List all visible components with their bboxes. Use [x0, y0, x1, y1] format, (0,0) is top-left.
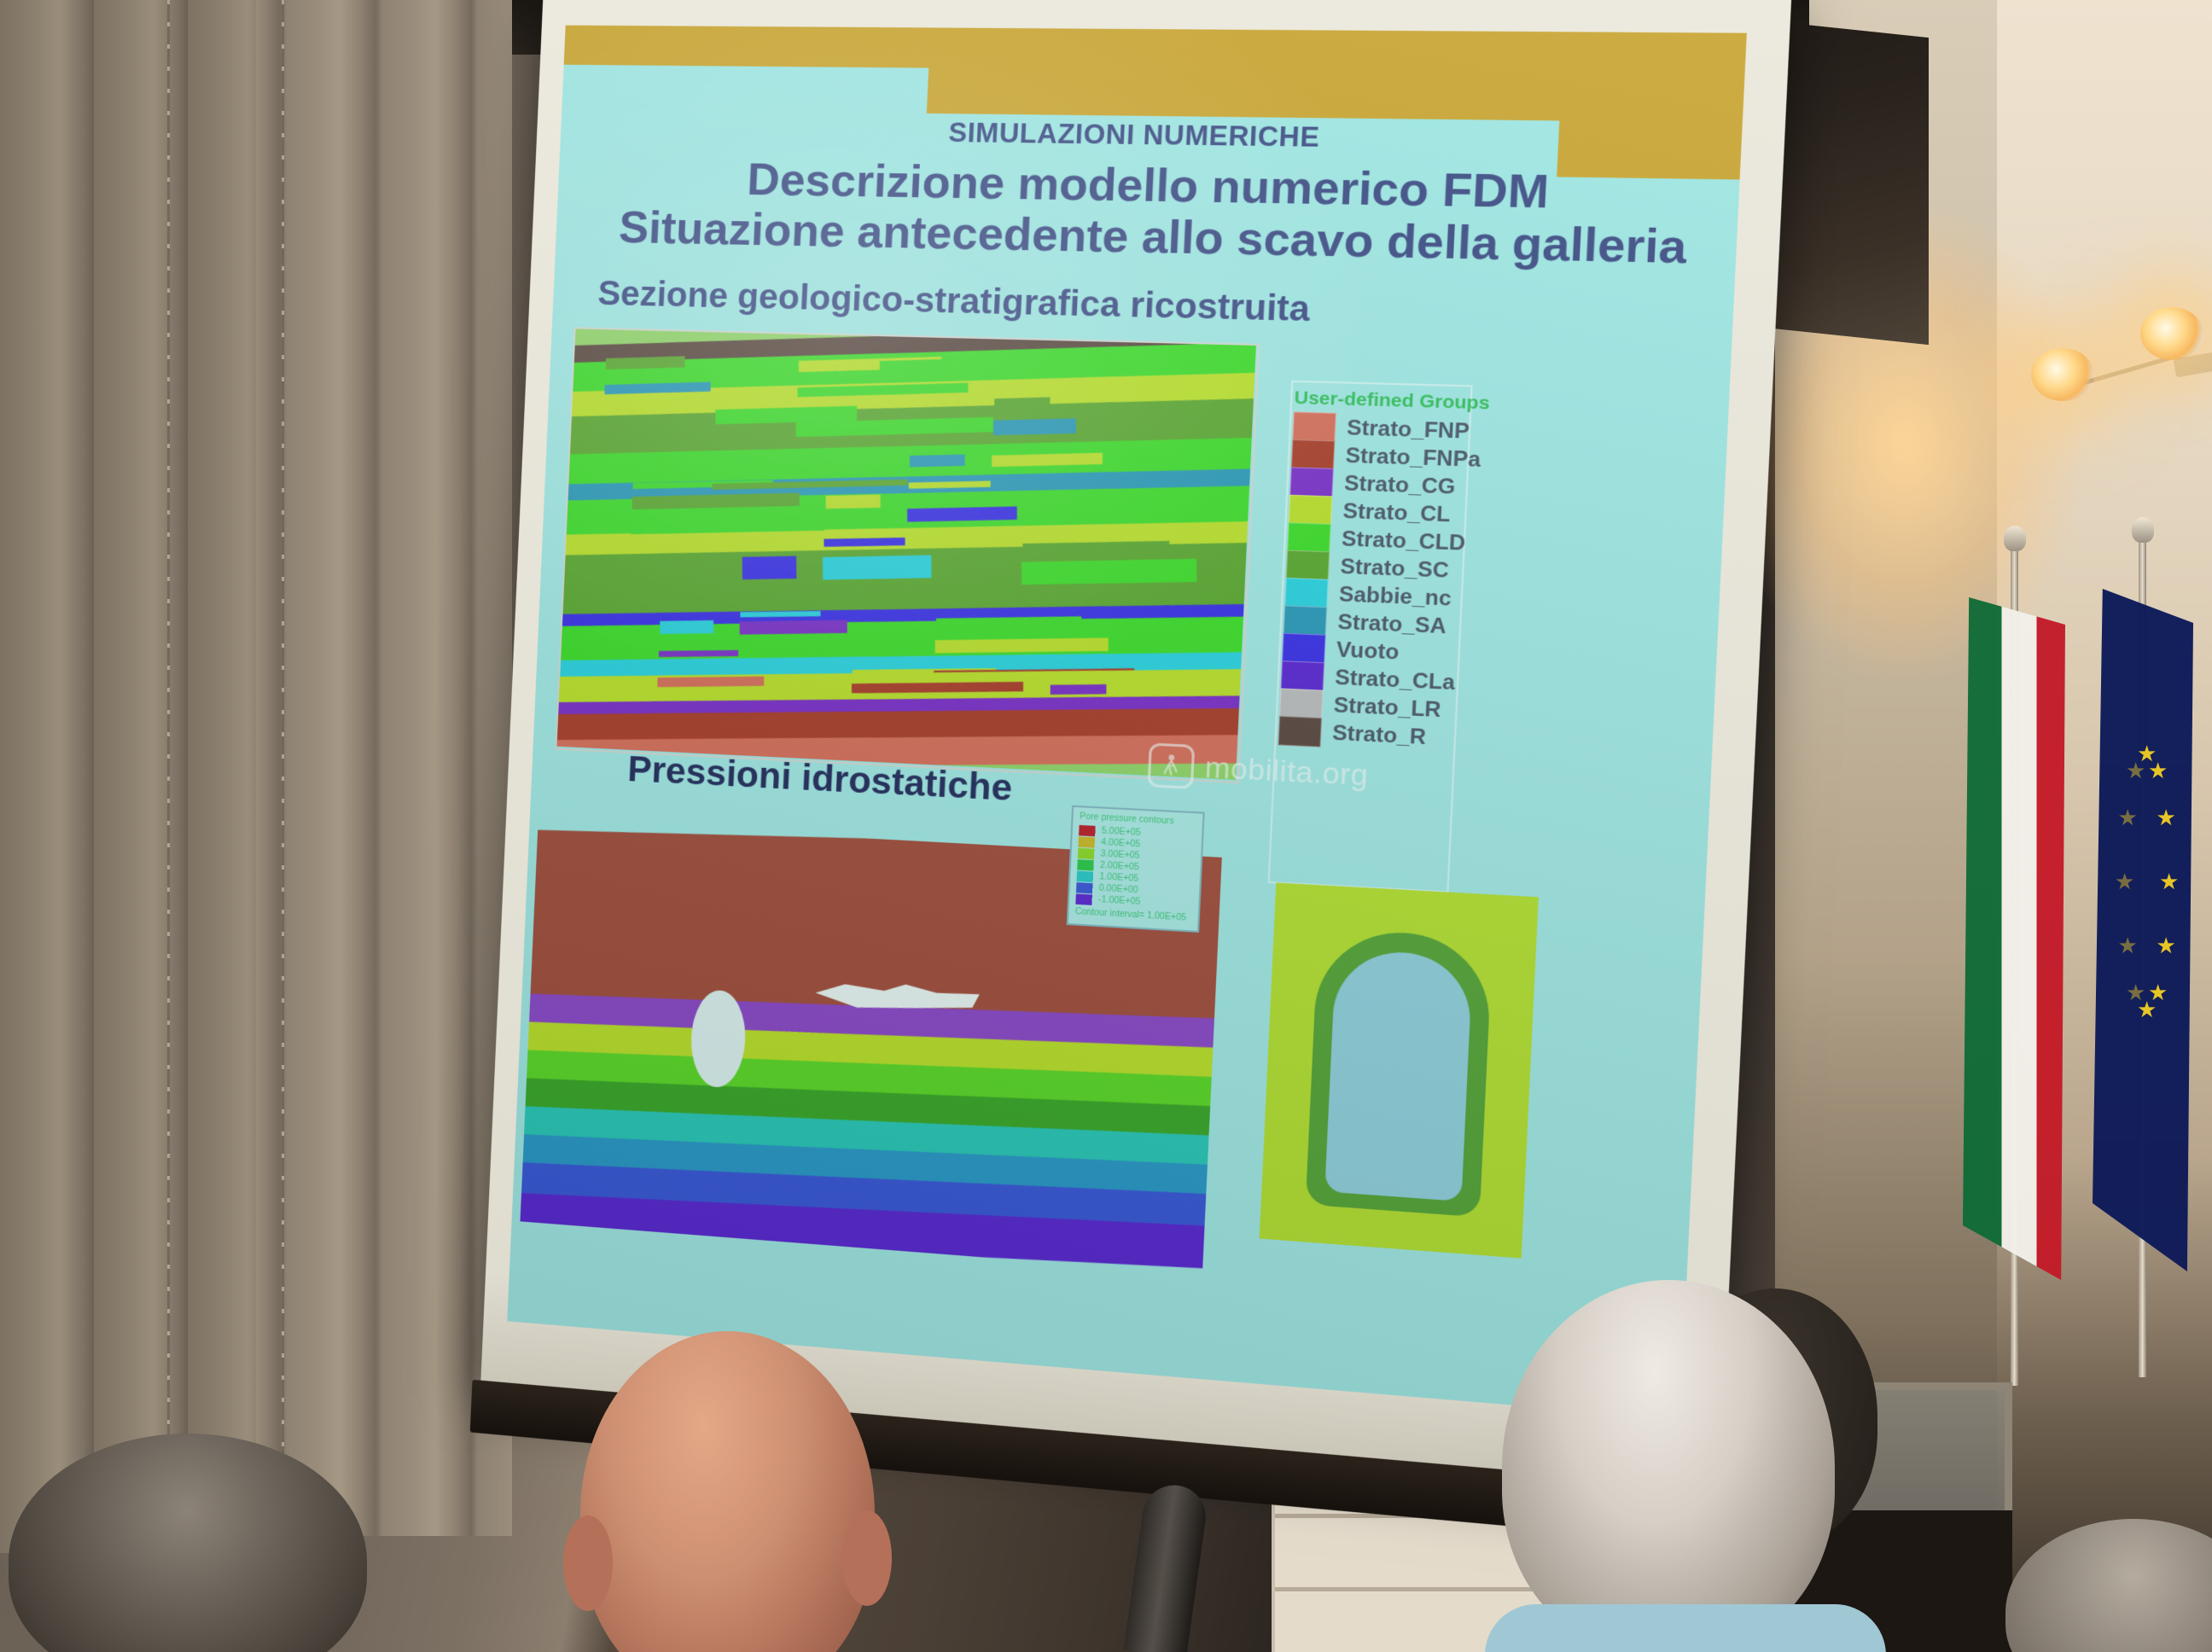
geological-lens: [657, 676, 764, 687]
legend-item-label: Strato_CL: [1342, 498, 1451, 527]
flagpole-finial: [2004, 526, 2026, 551]
ear: [563, 1515, 613, 1611]
legend-swatch: [1281, 660, 1325, 692]
pore-pressure-value: -1.00E+05: [1098, 895, 1141, 907]
pore-pressure-swatch: [1075, 893, 1092, 905]
legend-item-label: Strato_CLa: [1335, 665, 1456, 695]
eu-flag: ★★★★★★★★★★★★: [2093, 589, 2193, 1271]
flagpole-finial: [2132, 517, 2154, 543]
geological-lens: [907, 507, 1017, 522]
legend-item-label: Strato_SC: [1340, 554, 1450, 583]
pore-pressure-value: 2.00E+05: [1100, 861, 1139, 873]
pore-pressure-swatch: [1076, 881, 1093, 893]
legend-swatch: [1292, 411, 1336, 442]
audience-head-foreground: [1502, 1280, 1835, 1652]
eu-star-icon: ★: [2159, 870, 2179, 893]
geological-lens: [826, 495, 881, 509]
legend-item-label: Strato_FNP: [1346, 416, 1470, 445]
eu-star-icon: ★: [2157, 806, 2176, 829]
projection-screen: SIMULAZIONI NUMERICHE Descrizione modell…: [480, 0, 1791, 1492]
presentation-slide: SIMULAZIONI NUMERICHE Descrizione modell…: [507, 26, 1747, 1419]
screenshot-root: ★★★★★★★★★★★★ SIMULAZIONI NUMERICHE Descr…: [0, 0, 2212, 1652]
geological-lens: [908, 480, 990, 489]
legend-item-label: Strato_CG: [1343, 471, 1456, 500]
pore-pressure-legend: Pore pressure contours 5.00E+054.00E+053…: [1067, 806, 1205, 933]
geological-lens: [1022, 559, 1196, 585]
pore-pressure-value: 5.00E+05: [1102, 826, 1141, 838]
legend-item-label: Strato_R: [1332, 720, 1427, 749]
geological-lens: [935, 638, 1109, 654]
legend-item-label: Vuoto: [1336, 637, 1400, 665]
wall-sconce: [2031, 307, 2210, 427]
walking-person-icon: [1147, 742, 1195, 788]
blind-chain[interactable]: [167, 0, 170, 1485]
legend-swatch: [1279, 689, 1324, 720]
watermark-label: mobilita.org: [1204, 751, 1369, 793]
pore-pressure-swatch: [1078, 836, 1095, 847]
user-defined-groups-legend: User-defined Groups Strato_FNPStrato_FNP…: [1278, 387, 1606, 759]
legend-swatch: [1289, 495, 1333, 526]
legend-swatch: [1282, 633, 1326, 665]
legend-swatch: [1286, 550, 1330, 581]
geological-lens: [993, 418, 1077, 435]
legend-item-label: Strato_FNPa: [1345, 443, 1481, 472]
geological-lens: [742, 556, 796, 579]
legend-swatch: [1284, 605, 1328, 637]
legend-swatch: [1287, 522, 1331, 553]
legend-item-label: Strato_CLD: [1341, 526, 1465, 556]
geological-lens: [910, 455, 964, 468]
blind-chain[interactable]: [282, 0, 284, 1485]
pore-pressure-swatch: [1077, 870, 1094, 881]
ear: [842, 1510, 892, 1606]
audience-shoulder: [1485, 1604, 1886, 1652]
pore-pressure-swatch: [1078, 847, 1095, 858]
legend-swatch: [1284, 578, 1329, 608]
eu-star-icon: ★: [2115, 870, 2134, 893]
tunnel-cross-section: [1260, 882, 1539, 1258]
legend-item-label: Sabbie_nc: [1338, 582, 1452, 612]
light-bulb-icon: [2140, 307, 2203, 360]
geological-lens: [660, 620, 713, 634]
tunnel-lining: [1306, 928, 1493, 1217]
legend-swatch: [1291, 439, 1336, 470]
eu-star-icon: ★: [2126, 981, 2145, 1003]
eu-star-icon: ★: [2117, 806, 2137, 829]
legend-item-label: Strato_LR: [1333, 693, 1441, 723]
legend-swatch: [1289, 467, 1334, 497]
geological-lens: [739, 620, 847, 635]
geological-section-chart: [556, 327, 1256, 779]
geological-lens: [823, 555, 932, 579]
pore-pressure-value: 3.00E+05: [1100, 849, 1139, 861]
geological-lens: [1051, 684, 1106, 695]
legend-swatch: [1278, 716, 1322, 747]
eu-star-icon: ★: [2126, 759, 2145, 782]
geological-lens: [852, 682, 1023, 694]
pore-pressure-value: 4.00E+05: [1101, 838, 1140, 850]
tunnel-opening: [1324, 949, 1473, 1201]
vertical-blinds-secondary: [0, 0, 256, 1553]
legend-item-label: Strato_SA: [1337, 609, 1447, 639]
light-bulb-icon: [2031, 348, 2094, 401]
italian-flag: [1963, 597, 2065, 1280]
pore-pressure-swatch: [1079, 824, 1096, 835]
eu-star-icon: ★: [2157, 934, 2176, 957]
eu-star-icon: ★: [2148, 759, 2168, 782]
eu-star-icon: ★: [2117, 934, 2137, 957]
pore-pressure-swatch: [1077, 859, 1094, 870]
